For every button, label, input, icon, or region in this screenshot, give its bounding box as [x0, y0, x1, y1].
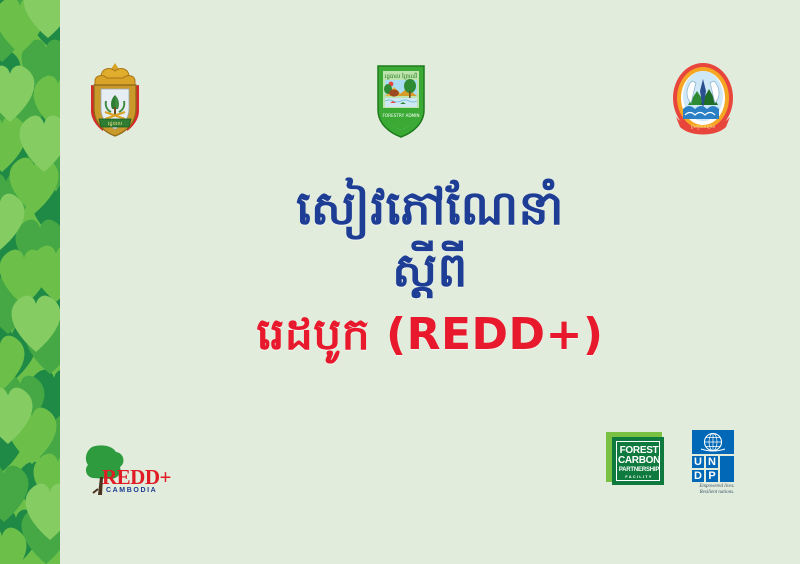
royal-government-of-cambodia-emblem: រដ្ឋបាល	[73, 57, 157, 145]
svg-text:រដ្ឋបាល ព្រៃឈើ: រដ្ឋបាល ព្រៃឈើ	[385, 72, 418, 80]
moe-emblem-svg: ក្រសួងបរិស្ថាន	[668, 59, 738, 139]
undp-side-block	[720, 456, 734, 482]
fcpf-inner-frame: FOREST CARBON PARTNERSHIP FACILITY	[616, 441, 660, 481]
leaf-pattern-strip	[0, 0, 60, 564]
undp-tagline-line-2: Resilient nations.	[688, 490, 746, 496]
un-globe-block	[692, 430, 734, 454]
redd-plus-wordmark: REDD+	[102, 467, 171, 488]
fcpf-line-3: PARTNERSHIP	[617, 467, 661, 474]
undp-letter-n: N	[706, 456, 718, 468]
svg-text:រដ្ឋបាល: រដ្ឋបាល	[108, 121, 123, 127]
undp-tagline: Empowered lives. Resilient nations.	[688, 484, 746, 496]
fcpf-line-2: CARBON	[617, 455, 661, 466]
svg-text:ក្រសួងបរិស្ថាន: ក្រសួងបរិស្ថាន	[691, 123, 715, 130]
undp-letter-p: P	[706, 470, 718, 482]
forest-carbon-partnership-facility-logo: FOREST CARBON PARTNERSHIP FACILITY	[606, 432, 670, 490]
ministry-of-environment-emblem: ក្រសួងបរិស្ថាន	[668, 59, 738, 143]
undp-logo: U N D P Empowered lives. Resilient natio…	[688, 430, 746, 492]
svg-text:FORESTRY ADMIN: FORESTRY ADMIN	[382, 113, 419, 118]
un-globe-icon	[692, 430, 734, 454]
forestry-emblem-svg: រដ្ឋបាល ព្រៃឈើ FORESTRY ADMIN	[372, 58, 430, 140]
rgc-emblem-svg: រដ្ឋបាល	[73, 57, 157, 141]
leaf-pattern-svg	[0, 0, 60, 564]
page-title-line-1: សៀវភៅណែនាំ	[60, 178, 800, 240]
redd-plus-cambodia-logo: REDD+ CAMBODIA	[80, 443, 170, 499]
cover-page: រដ្ឋបាល រដ្ឋបាល ព្រៃឈើ	[0, 0, 800, 564]
page-title-line-2: ស្តីពី	[60, 240, 800, 302]
page-title-line-3: រេដបូក (REDD+)	[60, 302, 800, 368]
undp-letter-d: D	[692, 470, 704, 482]
cambodia-subtitle: CAMBODIA	[106, 487, 157, 495]
fcpf-line-4: FACILITY	[617, 474, 661, 479]
undp-letter-u: U	[692, 456, 704, 468]
cover-title-block: សៀវភៅណែនាំ ស្តីពី រេដបូក (REDD+)	[60, 178, 800, 368]
forestry-administration-emblem: រដ្ឋបាល ព្រៃឈើ FORESTRY ADMIN	[372, 58, 430, 144]
